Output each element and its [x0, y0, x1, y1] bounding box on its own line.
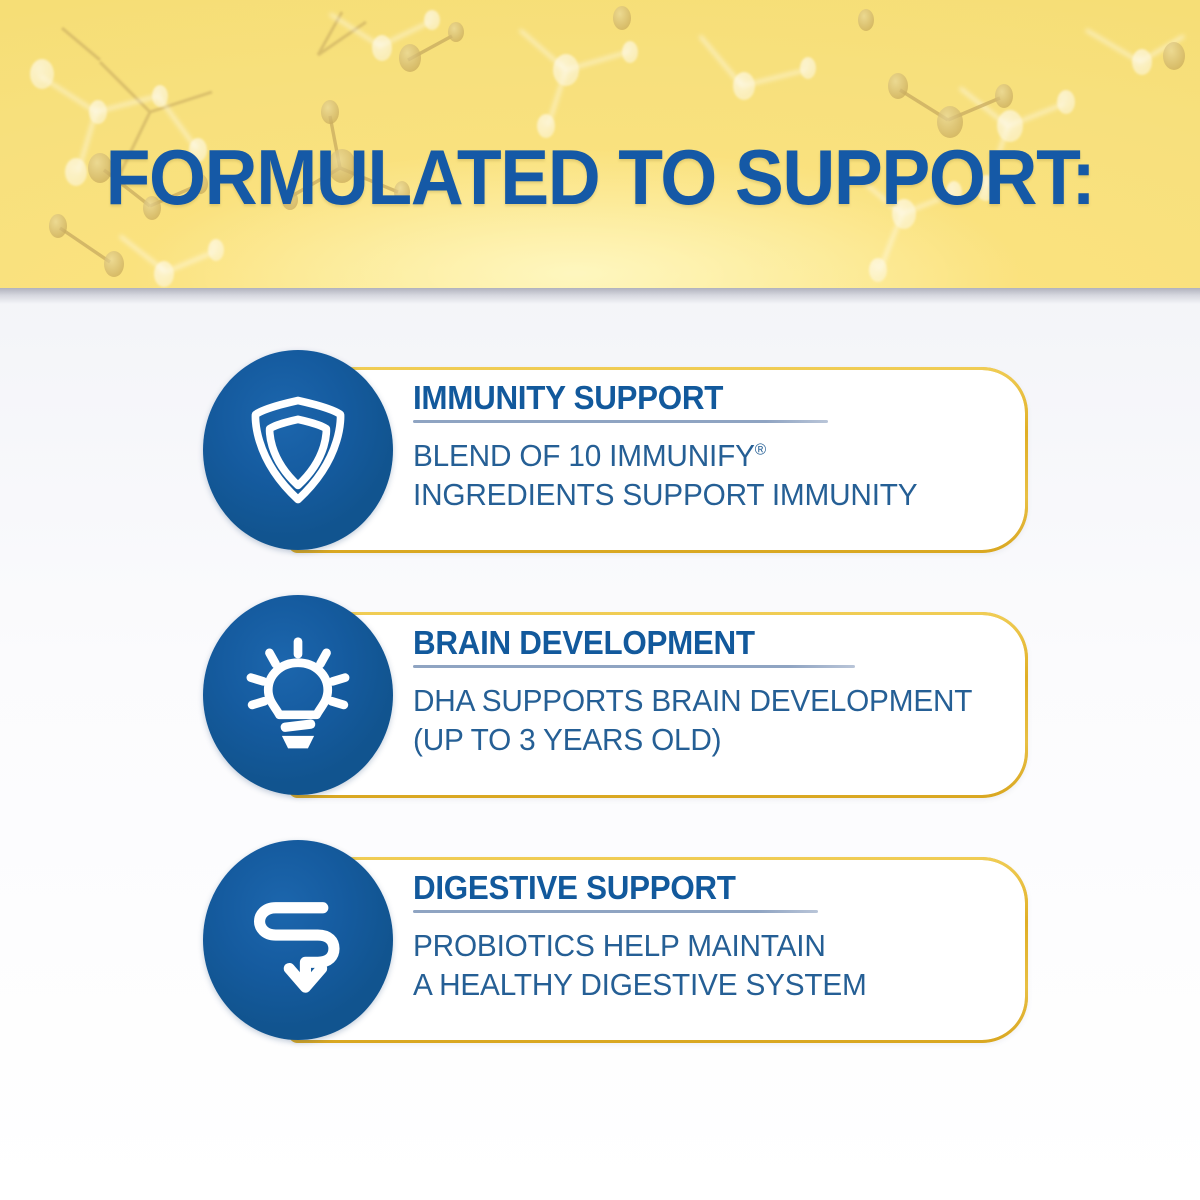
- card-body-line1: PROBIOTICS HELP MAINTAIN: [413, 928, 826, 963]
- intestine-icon: [203, 840, 393, 1040]
- shield-icon: [203, 350, 393, 550]
- card-text: BRAIN DEVELOPMENT DHA SUPPORTS BRAIN DEV…: [413, 625, 1023, 759]
- benefit-card-digestive[interactable]: DIGESTIVE SUPPORT PROBIOTICS HELP MAINTA…: [0, 840, 1200, 1040]
- banner-shadow: [0, 288, 1200, 304]
- card-body-line2: (UP TO 3 YEARS OLD): [413, 722, 721, 757]
- card-body: BLEND OF 10 IMMUNIFY® INGREDIENTS SUPPOR…: [413, 436, 999, 514]
- card-body-line1: BLEND OF 10 IMMUNIFY: [413, 438, 755, 473]
- lightbulb-icon: [203, 595, 393, 795]
- heading-rule: [413, 910, 818, 913]
- card-body: DHA SUPPORTS BRAIN DEVELOPMENT (UP TO 3 …: [413, 681, 999, 759]
- benefit-card-brain[interactable]: BRAIN DEVELOPMENT DHA SUPPORTS BRAIN DEV…: [0, 595, 1200, 795]
- promo-graphic: FORMULATED TO SUPPORT: IMMUNITY SUPPORT …: [0, 0, 1200, 1200]
- card-heading: BRAIN DEVELOPMENT: [413, 625, 993, 661]
- card-body-line1: DHA SUPPORTS BRAIN DEVELOPMENT: [413, 683, 972, 718]
- card-body: PROBIOTICS HELP MAINTAIN A HEALTHY DIGES…: [413, 926, 999, 1004]
- card-heading: DIGESTIVE SUPPORT: [413, 870, 993, 906]
- benefit-card-list: IMMUNITY SUPPORT BLEND OF 10 IMMUNIFY® I…: [0, 350, 1200, 1040]
- card-text: DIGESTIVE SUPPORT PROBIOTICS HELP MAINTA…: [413, 870, 1023, 1004]
- page-title: FORMULATED TO SUPPORT:: [36, 138, 1164, 216]
- header-banner: FORMULATED TO SUPPORT:: [0, 0, 1200, 288]
- benefit-card-immunity[interactable]: IMMUNITY SUPPORT BLEND OF 10 IMMUNIFY® I…: [0, 350, 1200, 550]
- card-text: IMMUNITY SUPPORT BLEND OF 10 IMMUNIFY® I…: [413, 380, 1023, 514]
- heading-rule: [413, 665, 855, 668]
- card-body-line2: A HEALTHY DIGESTIVE SYSTEM: [413, 967, 867, 1002]
- registered-mark: ®: [755, 441, 766, 459]
- card-body-line2: INGREDIENTS SUPPORT IMMUNITY: [413, 477, 917, 512]
- card-heading: IMMUNITY SUPPORT: [413, 380, 993, 416]
- heading-rule: [413, 420, 828, 423]
